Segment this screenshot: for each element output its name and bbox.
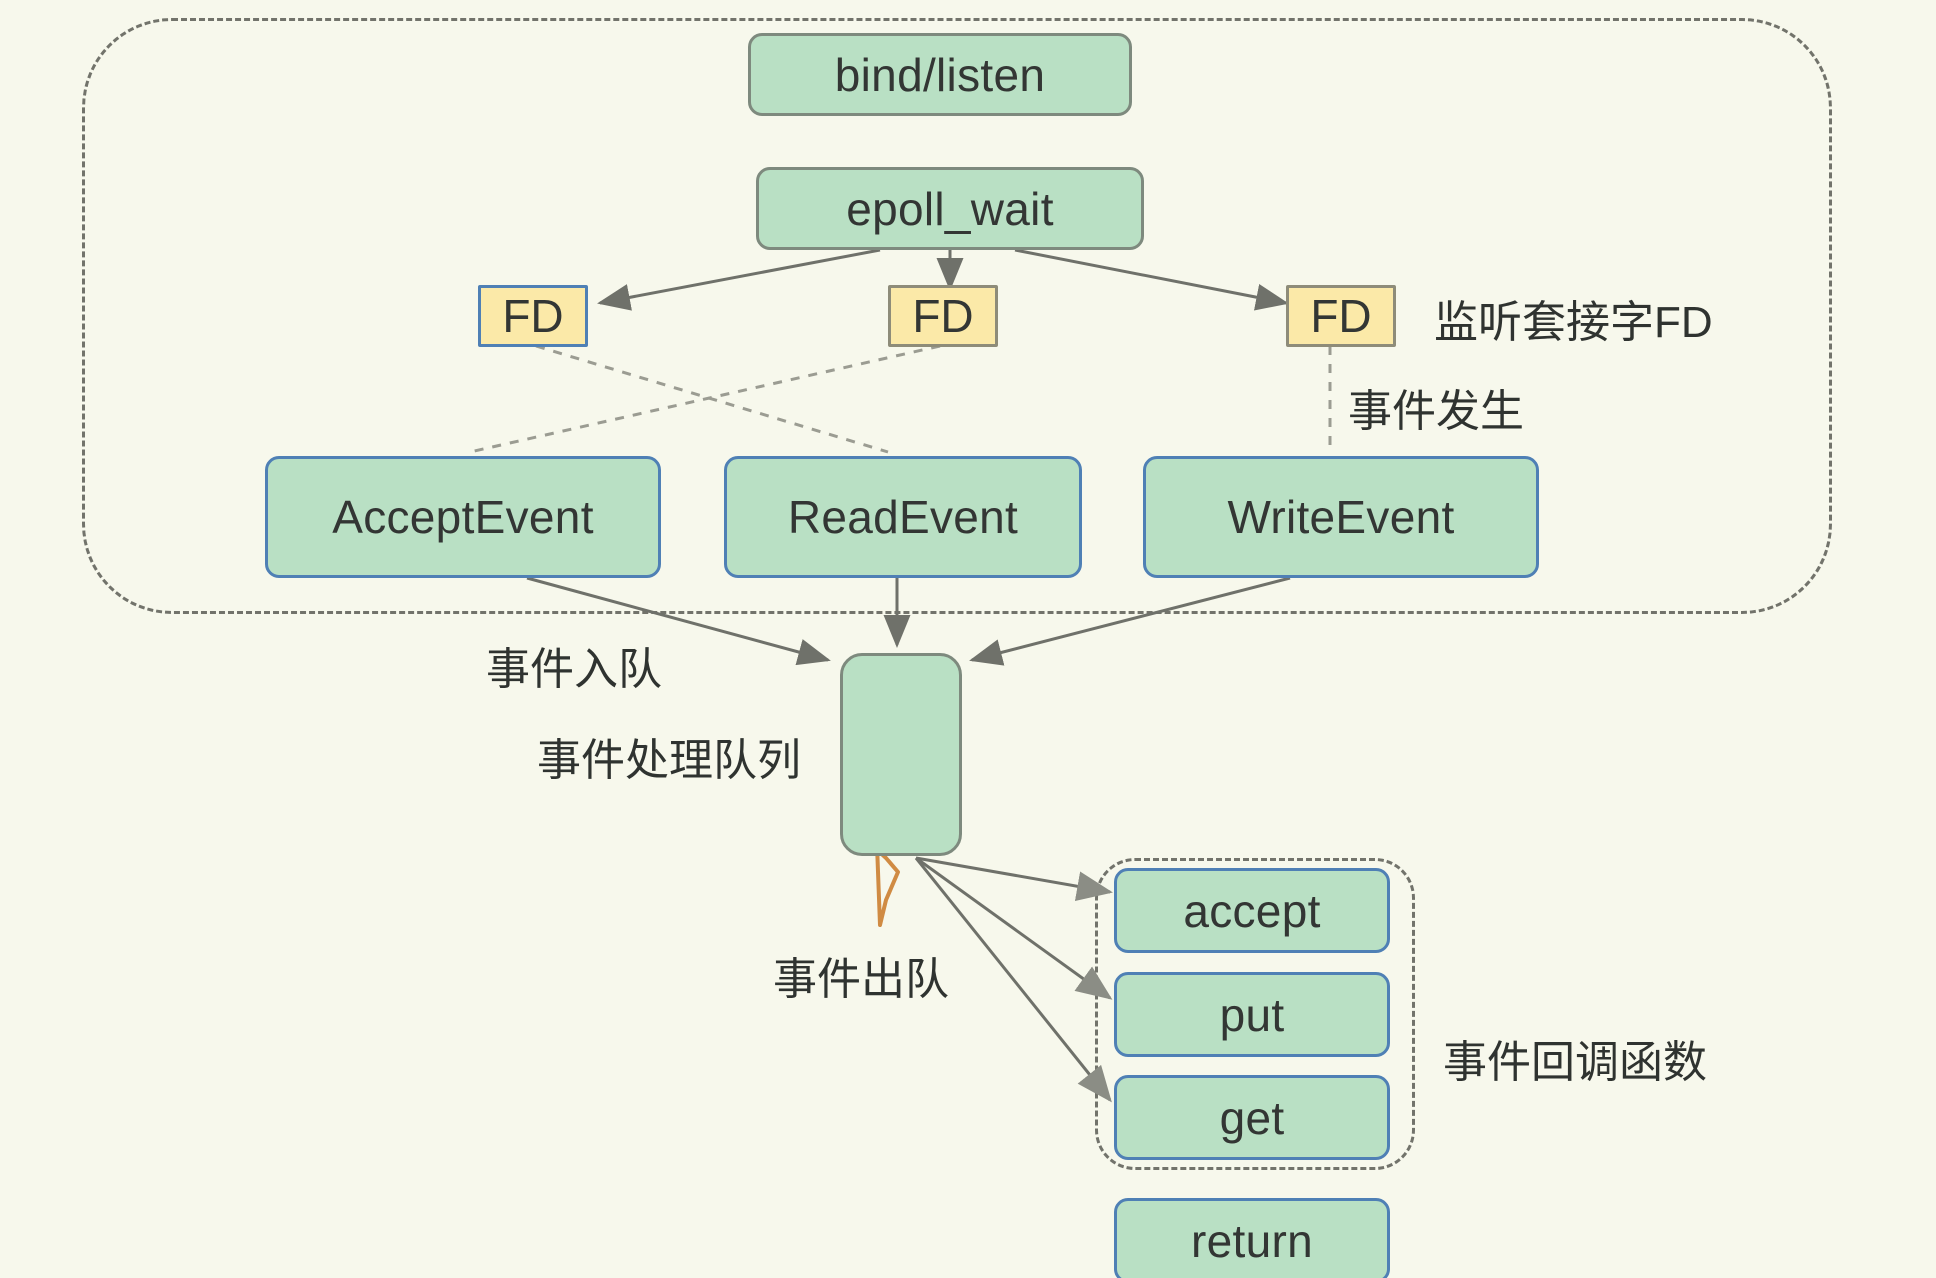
node-fd-left[interactable]: FD [478,285,588,347]
node-fd-middle[interactable]: FD [888,285,998,347]
label-event-queue: 事件处理队列 [537,724,801,788]
label-event-occurs: 事件发生 [1348,375,1524,439]
diagram-canvas: bind/listen epoll_wait FD FD FD AcceptEv… [0,0,1936,1278]
node-bind-listen[interactable]: bind/listen [748,33,1132,116]
node-get[interactable]: get [1114,1075,1390,1160]
node-fd-right[interactable]: FD [1286,285,1396,347]
label-event-callback: 事件回调函数 [1443,1026,1707,1090]
label-event-dequeue: 事件出队 [773,943,949,1007]
node-accept-event[interactable]: AcceptEvent [265,456,661,578]
edge-queue-accept [916,858,1110,892]
node-event-queue[interactable] [840,653,962,856]
node-put[interactable]: put [1114,972,1390,1057]
node-read-event[interactable]: ReadEvent [724,456,1082,578]
label-listen-socket-fd: 监听套接字FD [1434,286,1713,350]
label-event-enqueue: 事件入队 [486,633,662,697]
node-accept[interactable]: accept [1114,868,1390,953]
node-return[interactable]: return [1114,1198,1390,1278]
node-epoll-wait[interactable]: epoll_wait [756,167,1144,250]
node-write-event[interactable]: WriteEvent [1143,456,1539,578]
